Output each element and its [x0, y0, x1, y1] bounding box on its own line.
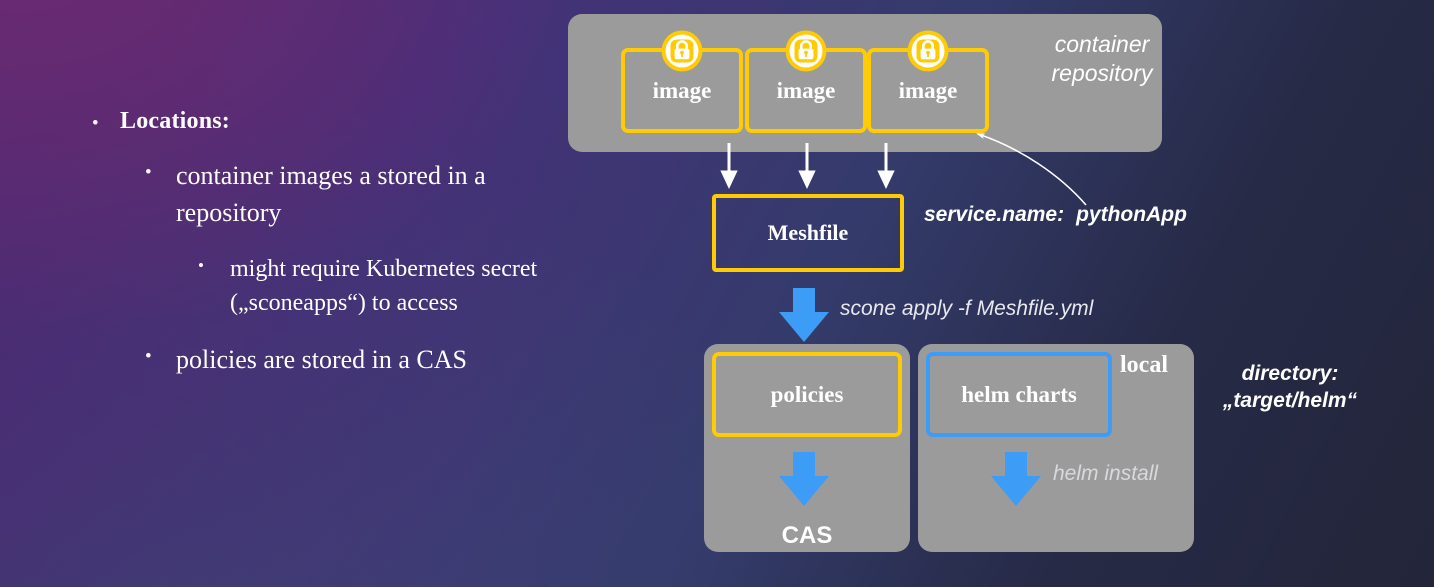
local-scope-label: local [1120, 352, 1168, 379]
lock-icon [907, 30, 949, 72]
repository-label-line1: container [1042, 30, 1162, 59]
lock-icon [785, 30, 827, 72]
cas-label: CAS [704, 522, 910, 550]
container-repository-label: container repository [1042, 30, 1162, 89]
helm-charts-box: helm charts [926, 352, 1112, 437]
meshfile-box: Meshfile [712, 194, 904, 272]
image-box-label: image [653, 78, 712, 104]
slide-canvas: • Locations: • container images a stored… [0, 0, 1434, 587]
lock-icon [661, 30, 703, 72]
directory-label-line2: „target/helm“ [1200, 387, 1380, 414]
policies-label: policies [771, 382, 844, 408]
policies-box: policies [712, 352, 902, 437]
service-name-value: pythonApp [1076, 203, 1187, 226]
meshfile-label: Meshfile [768, 220, 849, 246]
repository-label-line2: repository [1042, 59, 1162, 88]
directory-annotation: directory: „target/helm“ [1200, 360, 1380, 415]
image-box-label: image [777, 78, 836, 104]
service-name-key: service.name: [924, 203, 1064, 226]
image-box-label: image [899, 78, 958, 104]
meshfile-to-policies-arrow [779, 288, 829, 342]
architecture-diagram: image image image [0, 0, 1434, 587]
scone-apply-command-annotation: scone apply -f Meshfile.yml [840, 297, 1093, 321]
helm-charts-label: helm charts [961, 382, 1077, 408]
helm-install-annotation: helm install [1053, 462, 1158, 486]
directory-label-line1: directory: [1200, 360, 1380, 387]
service-name-annotation: service.name:pythonApp [924, 203, 1187, 227]
